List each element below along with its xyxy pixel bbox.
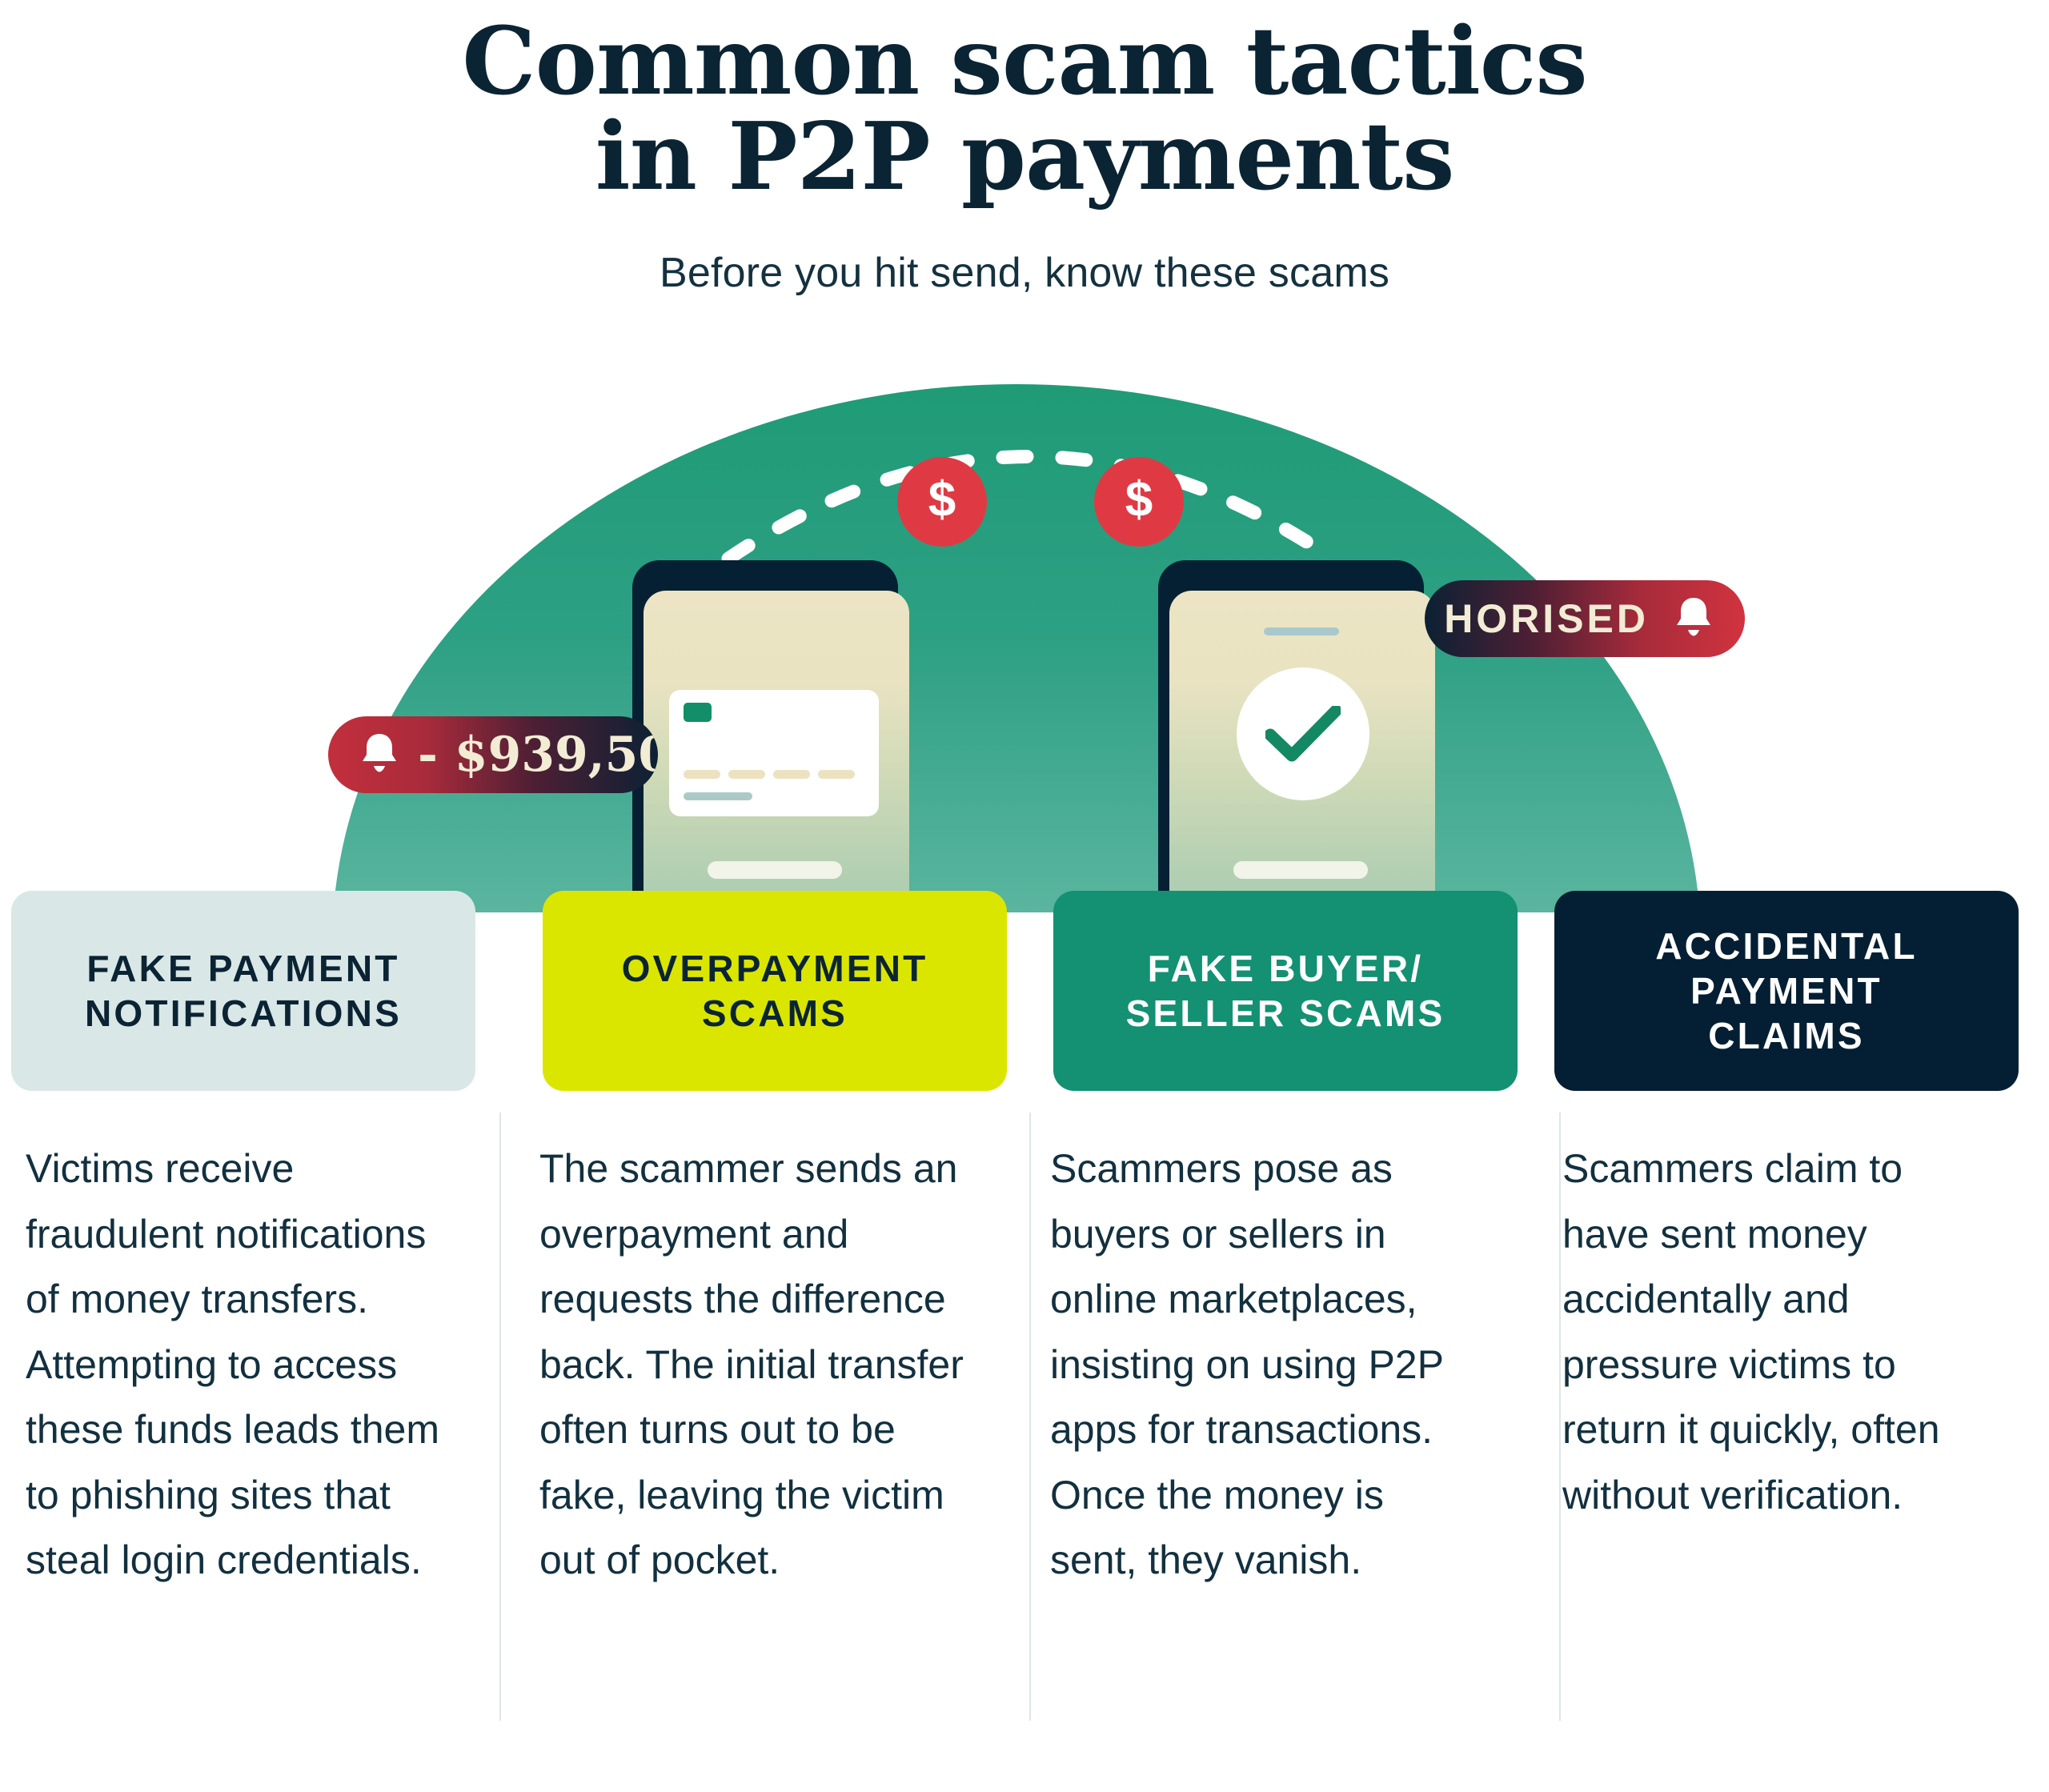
category-title: FAKE PAYMENT NOTIFICATIONS [85, 946, 402, 1036]
category-card-overpayment-scams[interactable]: OVERPAYMENT SCAMS [543, 891, 1007, 1091]
column-0: FAKE PAYMENT NOTIFICATIONS [0, 891, 512, 1100]
payment-card-graphic [669, 690, 879, 816]
dollar-coin-icon-2: $ [1094, 457, 1184, 547]
title-line-1: Common scam tactics [0, 14, 2049, 110]
description-text: Scammers pose as buyers or sellers in on… [1050, 1137, 1476, 1594]
category-title: OVERPAYMENT SCAMS [622, 946, 928, 1036]
dollar-coin-icon-1: $ [897, 457, 987, 547]
notification-label: HORISED [1444, 595, 1649, 642]
card-name-placeholder [684, 792, 752, 800]
phone-right [1158, 560, 1424, 912]
column-3: ACCIDENTAL PAYMENT CLAIMS [1537, 891, 2049, 1100]
phone-right-title-placeholder [1264, 627, 1339, 635]
phone-left-action-bar [708, 861, 842, 879]
description-column-2: Scammers pose as buyers or sellers in on… [1024, 1137, 1537, 1729]
description-text: The scammer sends an overpayment and req… [539, 1137, 964, 1594]
bell-icon [359, 731, 400, 780]
phone-left-screen [644, 591, 909, 912]
category-cards-row: FAKE PAYMENT NOTIFICATIONS OVERPAYMENT S… [0, 891, 2049, 1100]
category-card-accidental-payment-claims[interactable]: ACCIDENTAL PAYMENT CLAIMS [1554, 891, 2019, 1091]
descriptions-row: Victims receive fraudulent notifications… [0, 1137, 2049, 1729]
success-check-icon [1237, 667, 1369, 800]
category-card-fake-buyer-seller-scams[interactable]: FAKE BUYER/ SELLER SCAMS [1053, 891, 1518, 1091]
page-subtitle: Before you hit send, know these scams [0, 249, 2049, 297]
page-title: Common scam tactics in P2P payments [0, 14, 2049, 206]
description-text: Victims receive fraudulent notifications… [26, 1137, 451, 1594]
card-dot [728, 770, 765, 779]
card-chip-icon [684, 703, 712, 722]
phone-right-action-bar [1233, 861, 1368, 879]
header: Common scam tactics in P2P payments Befo… [0, 0, 2049, 297]
phone-right-screen [1169, 591, 1435, 912]
notification-pill-unauthorised: HORISED [1425, 580, 1745, 657]
money-flow-arc-icon [720, 391, 1329, 567]
card-dot [684, 770, 720, 779]
card-dot [773, 770, 810, 779]
card-number-placeholder [684, 770, 855, 779]
category-title: ACCIDENTAL PAYMENT CLAIMS [1655, 924, 1918, 1058]
description-column-1: The scammer sends an overpayment and req… [512, 1137, 1024, 1729]
bell-icon [1673, 595, 1714, 643]
illustration: $ $ [0, 352, 2049, 912]
description-column-3: Scammers claim to have sent money accide… [1537, 1137, 2049, 1729]
phone-left [632, 560, 898, 912]
column-1: OVERPAYMENT SCAMS [512, 891, 1024, 1100]
notification-pill-debit: - $939,500. [328, 716, 658, 793]
category-card-fake-payment-notifications[interactable]: FAKE PAYMENT NOTIFICATIONS [11, 891, 475, 1091]
infographic-root: Common scam tactics in P2P payments Befo… [0, 0, 2049, 1792]
description-text: Scammers claim to have sent money accide… [1562, 1137, 1988, 1528]
card-dot [818, 770, 855, 779]
description-column-0: Victims receive fraudulent notifications… [0, 1137, 512, 1729]
column-2: FAKE BUYER/ SELLER SCAMS [1024, 891, 1537, 1100]
title-line-2: in P2P payments [0, 110, 2049, 205]
category-title: FAKE BUYER/ SELLER SCAMS [1126, 946, 1446, 1036]
notification-amount: - $939,500. [418, 727, 658, 783]
